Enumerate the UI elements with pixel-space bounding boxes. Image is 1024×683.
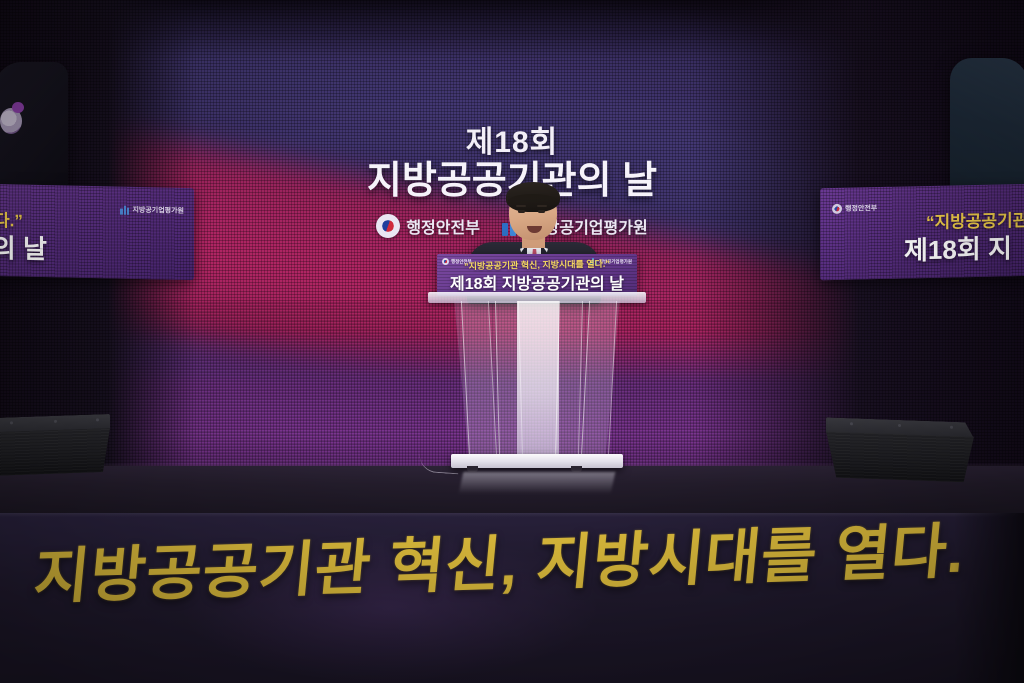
lectern-floor-reflection xyxy=(459,472,616,494)
lectern-panel-3 xyxy=(555,301,583,458)
speaker-eye-left xyxy=(518,210,525,213)
monitor-screw xyxy=(850,422,853,425)
grille-texture xyxy=(0,428,110,476)
lectern-sign: 행정안전부 지방공기업평가원 “지방공공기관 혁신, 지방시대를 열다.” 제1… xyxy=(437,254,637,296)
monitor-screw xyxy=(96,418,99,421)
monitor-screw xyxy=(10,421,13,424)
event-edition-text: 제18회 xyxy=(340,128,684,158)
side-screen-left-title: 기관의 날 xyxy=(0,227,47,266)
attendee-right xyxy=(950,58,1024,190)
side-screen-right-logo: 행정안전부 xyxy=(832,203,877,214)
side-screen-right-title: 제18회 지 xyxy=(904,228,1012,267)
lectern: 행정안전부 지방공기업평가원 “지방공공기관 혁신, 지방시대를 열다.” 제1… xyxy=(437,254,637,296)
banner-slogan-text: 지방공공기관 혁신, 지방시대를 열다. xyxy=(31,522,936,607)
stage-monitor-right-grille xyxy=(826,431,974,482)
stage-monitor-right xyxy=(826,417,974,482)
front-stage-banner: 지방공공기관 혁신, 지방시대를 열다. xyxy=(0,513,1024,683)
speaker-eye-right xyxy=(538,210,545,213)
monitor-screw xyxy=(898,424,901,427)
stage-monitor-left xyxy=(0,414,110,474)
building-icon xyxy=(120,205,129,214)
monitor-screw xyxy=(950,426,953,429)
speaker-eyebrow-right xyxy=(537,205,547,207)
stage-photo: 제18회 지방공공기관의 날 행정안전부 지방공기업평가원 를 열다.” 기관의… xyxy=(0,0,1024,683)
stage-monitor-left-grille xyxy=(0,428,110,476)
side-screen-left-logo: 지방공기업평가원 xyxy=(120,205,184,216)
side-screen-left: 를 열다.” 기관의 날 지방공기업평가원 xyxy=(0,184,194,280)
side-screen-left-logo-label: 지방공기업평가원 xyxy=(132,205,184,216)
taegeuk-icon xyxy=(832,204,842,214)
lectern-front-panel xyxy=(517,301,559,456)
grille-texture xyxy=(826,431,974,482)
corsage-ribbon xyxy=(12,102,24,113)
taegeuk-icon xyxy=(376,214,400,238)
speaker-eyebrow-left xyxy=(516,205,526,207)
organizer-name-ministry: 행정안전부 xyxy=(406,214,480,238)
speaker-hair xyxy=(506,182,560,212)
side-screen-right-logo-label: 행정안전부 xyxy=(845,203,877,214)
banner-shadow-right xyxy=(954,513,1024,683)
lectern-sign-title: 제18회 지방공공기관의 날 xyxy=(437,270,637,294)
attendee-left xyxy=(0,62,68,190)
side-screen-right: 행정안전부 “지방공공기관 제18회 지 xyxy=(820,184,1024,281)
monitor-screw xyxy=(54,420,57,423)
organizer-logo-ministry: 행정안전부 xyxy=(376,214,480,238)
